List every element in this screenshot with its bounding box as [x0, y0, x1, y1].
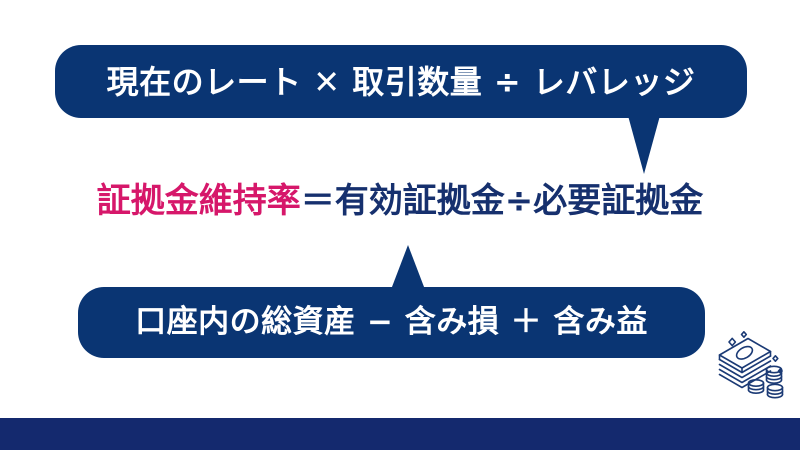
bubble-effective-margin: 口座内の総資産 − 含み損 ＋ 含み益	[78, 287, 705, 358]
slide-canvas: 現在のレート ✕ 取引数量 ÷ レバレッジ 証拠金維持率＝有効証拠金÷必要証拠金…	[0, 0, 800, 450]
margin-maintenance-formula: 証拠金維持率＝有効証拠金÷必要証拠金	[0, 183, 800, 220]
bubble-required-margin: 現在のレート ✕ 取引数量 ÷ レバレッジ	[55, 45, 747, 118]
bubble-top-tail	[627, 112, 661, 174]
formula-numerator: 有効証拠金	[335, 181, 505, 221]
money-stack-icon	[713, 328, 791, 406]
footer-band	[0, 418, 800, 450]
formula-subject: 証拠金維持率	[97, 181, 301, 221]
bubble-effective-margin-text: 口座内の総資産 − 含み損 ＋ 含み益	[135, 307, 648, 338]
bubble-required-margin-text: 現在のレート ✕ 取引数量 ÷ レバレッジ	[107, 66, 696, 98]
formula-divide: ÷	[505, 181, 534, 221]
formula-equals: ＝	[301, 181, 335, 221]
formula-denominator: 必要証拠金	[533, 181, 703, 221]
